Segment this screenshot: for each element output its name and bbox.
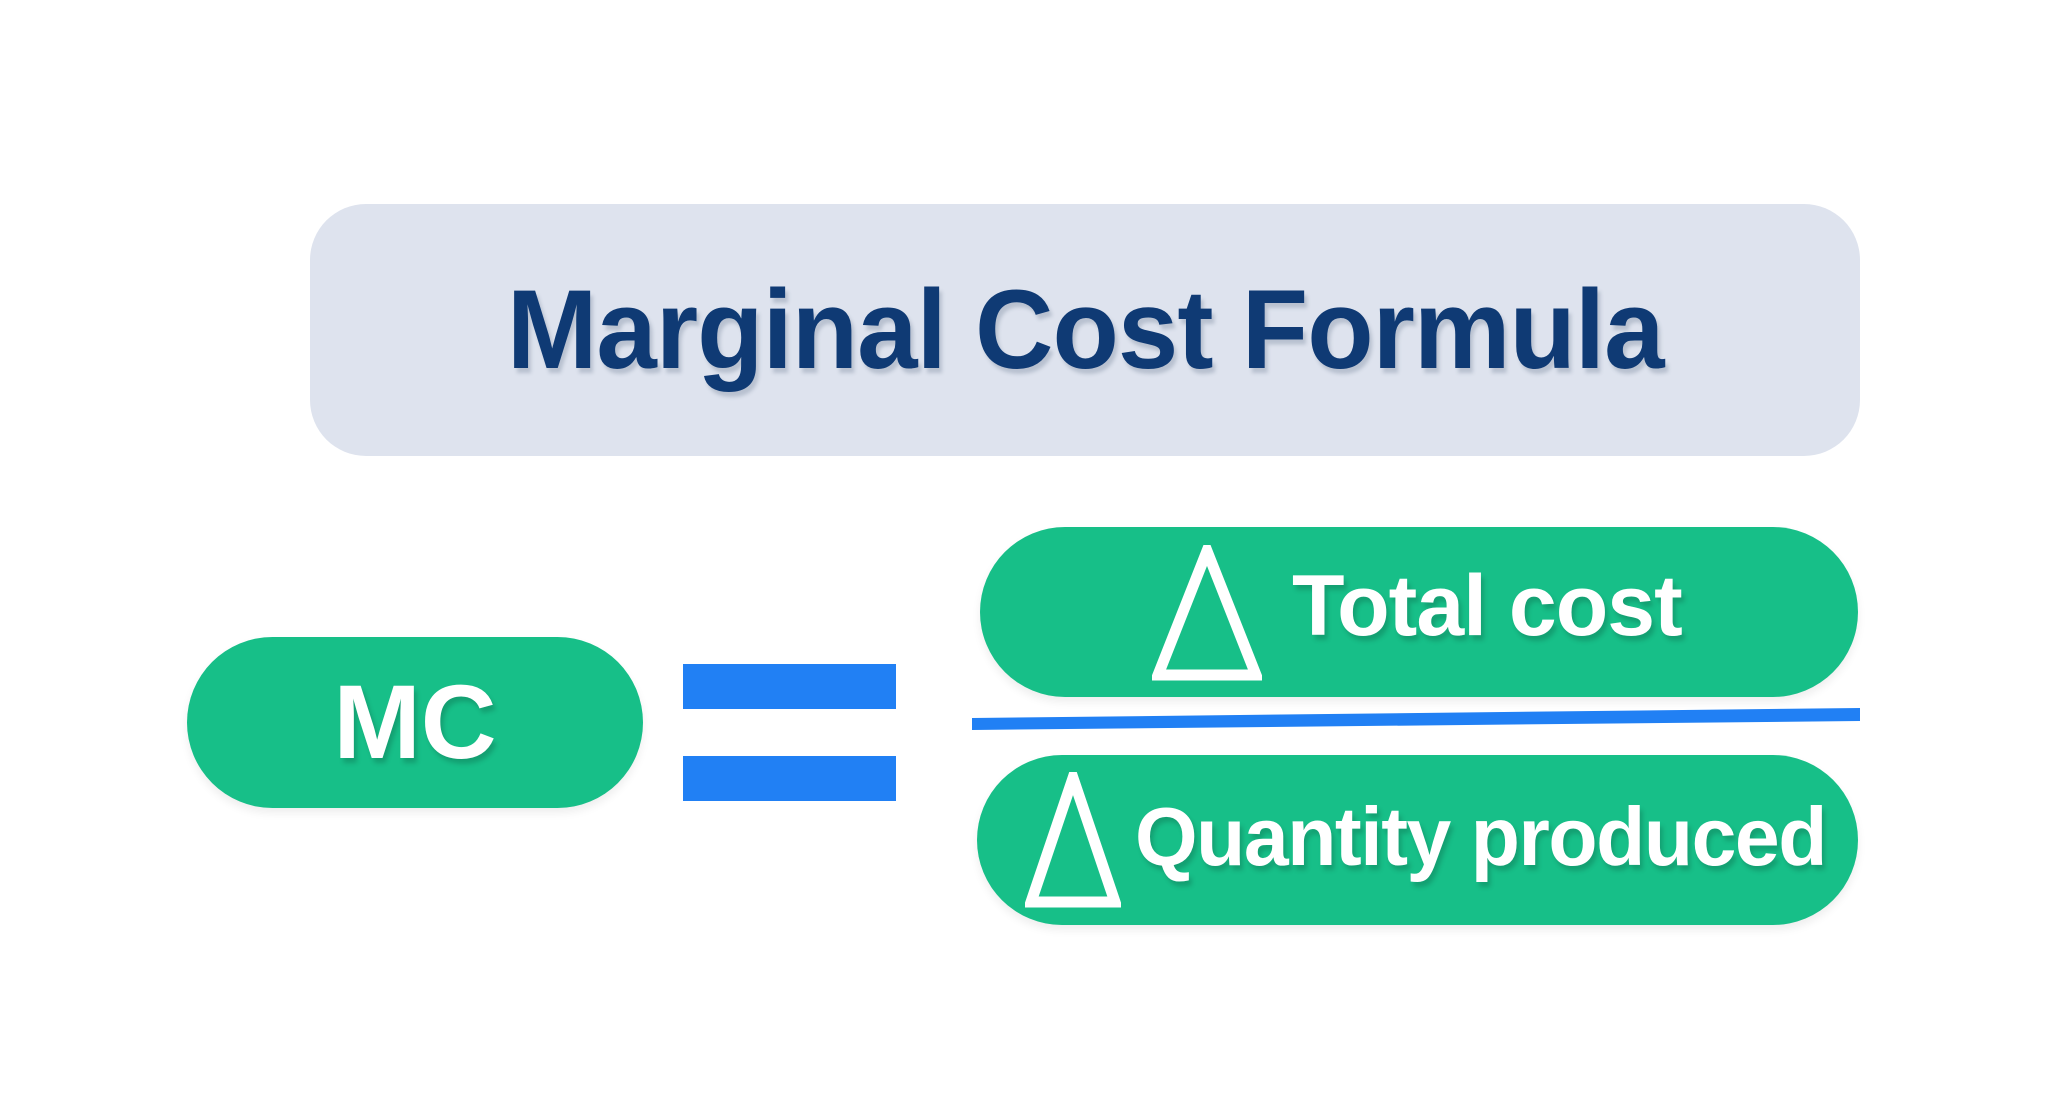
denominator-pill: Quantity produced bbox=[977, 755, 1858, 925]
delta-icon bbox=[1025, 772, 1121, 908]
numerator-pill: Total cost bbox=[980, 527, 1858, 697]
equals-bar-bottom bbox=[683, 756, 896, 801]
delta-icon bbox=[1152, 545, 1262, 681]
denominator-label: Quantity produced bbox=[1135, 795, 1826, 878]
equals-bar-top bbox=[683, 664, 896, 709]
formula-infographic: Marginal Cost Formula MC Total cost bbox=[0, 0, 2061, 1097]
numerator-label: Total cost bbox=[1292, 563, 1682, 649]
formula-expression: MC Total cost Quantity produced bbox=[0, 0, 2061, 1097]
fraction-bar bbox=[972, 708, 1860, 730]
marginal-cost-label: MC bbox=[333, 670, 496, 775]
equals-sign-icon bbox=[683, 664, 896, 801]
marginal-cost-term-pill: MC bbox=[187, 637, 643, 808]
